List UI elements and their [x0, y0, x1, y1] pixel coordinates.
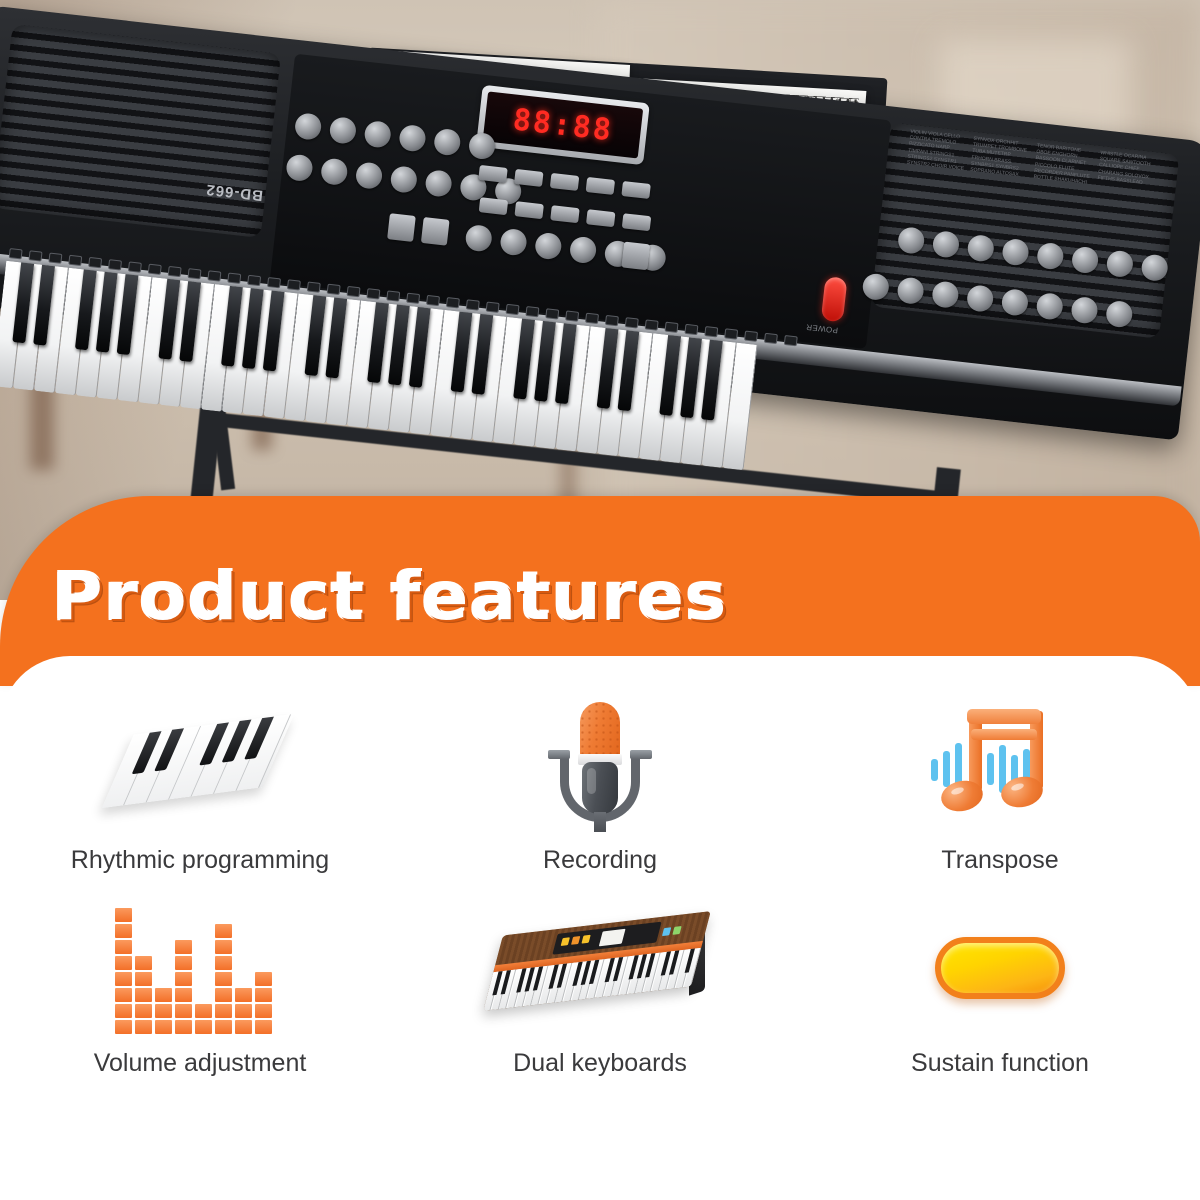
page-title: Product features [52, 558, 727, 635]
feature-recording: Recording [400, 690, 800, 875]
led-digits: 88:88 [511, 102, 615, 148]
note-beam-lower [971, 729, 1037, 740]
microphone-icon [485, 690, 715, 840]
knob[interactable] [320, 157, 349, 186]
waveform-bar [987, 753, 994, 785]
knob[interactable] [424, 169, 453, 198]
function-chip [625, 317, 639, 328]
function-chip [128, 261, 142, 272]
panel-button[interactable] [478, 165, 507, 183]
equalizer-block [215, 988, 232, 1002]
function-chip [426, 295, 440, 306]
mic-head-grille [580, 702, 620, 758]
panel-button[interactable] [387, 213, 416, 242]
knob[interactable] [398, 124, 427, 153]
equalizer-block [175, 972, 192, 986]
equalizer-block [155, 1004, 172, 1018]
knob[interactable] [1035, 292, 1064, 321]
equalizer-block [255, 1004, 272, 1018]
panel-button[interactable] [421, 217, 450, 246]
function-chip [346, 286, 360, 297]
equalizer-block [135, 956, 152, 970]
panel-button[interactable] [621, 181, 650, 199]
knob[interactable] [966, 234, 995, 263]
knob[interactable] [861, 272, 890, 301]
features-grid: Rhythmic programming Recor [0, 690, 1200, 1078]
mic-highlight [587, 768, 596, 794]
function-chip [724, 328, 738, 339]
knob[interactable] [569, 236, 598, 265]
feature-dual-keyboards: Dual keyboards [400, 893, 800, 1078]
equalizer-block [135, 988, 152, 1002]
function-chip [486, 302, 500, 313]
function-chip [506, 304, 520, 315]
music-note-wave-icon [885, 690, 1115, 840]
knob[interactable] [931, 280, 960, 309]
equalizer-block [155, 1020, 172, 1034]
note-stem-left [969, 713, 982, 791]
knob[interactable] [468, 132, 497, 161]
equalizer-block [175, 1004, 192, 1018]
mic-arm-left [548, 750, 570, 759]
function-chip [665, 322, 679, 333]
feature-rhythmic-programming: Rhythmic programming [0, 690, 400, 875]
note-beam-upper [967, 709, 1041, 724]
panel-button[interactable] [586, 209, 615, 227]
waveform-bar [943, 751, 950, 787]
knob[interactable] [329, 116, 358, 145]
knob[interactable] [433, 128, 462, 157]
waveform-bar [931, 759, 938, 781]
panel-button[interactable] [550, 173, 579, 191]
equalizer-block [115, 940, 132, 954]
function-chip [684, 324, 698, 335]
function-chip [784, 335, 798, 346]
function-chip [446, 297, 460, 308]
equalizer-block [215, 1020, 232, 1034]
function-chip [645, 319, 659, 330]
equalizer-bars-icon [85, 893, 315, 1043]
function-chip [48, 252, 62, 263]
equalizer-block [175, 1020, 192, 1034]
function-chip [207, 270, 221, 281]
equalizer-block [135, 972, 152, 986]
mic-arm-right [630, 750, 652, 759]
equalizer-block [175, 956, 192, 970]
function-chip [366, 288, 380, 299]
knob[interactable] [534, 232, 563, 261]
equalizer-block [195, 1020, 212, 1034]
knob[interactable] [1071, 246, 1100, 275]
knob[interactable] [355, 161, 384, 190]
function-chip [525, 306, 539, 317]
equalizer-block [215, 956, 232, 970]
square-button-row-4[interactable] [621, 242, 650, 271]
feature-sustain-function: Sustain function [800, 893, 1200, 1078]
led-display: 88:88 [476, 85, 650, 165]
equalizer-block [115, 988, 132, 1002]
panel-button[interactable] [514, 169, 543, 187]
function-chip [247, 275, 261, 286]
function-chip [168, 266, 182, 277]
equalizer-block [115, 1020, 132, 1034]
function-chip [327, 284, 341, 295]
feature-label: Recording [543, 846, 657, 875]
equalizer-block [235, 988, 252, 1002]
panel-button[interactable] [622, 213, 651, 231]
function-chip [9, 248, 23, 259]
dual-keyboard-icon [485, 893, 715, 1043]
knob[interactable] [1036, 242, 1065, 271]
knob[interactable] [896, 276, 925, 305]
knob[interactable] [932, 230, 961, 259]
equalizer-block [235, 1020, 252, 1034]
equalizer-block [255, 972, 272, 986]
piano-keys-icon [85, 690, 315, 840]
feature-label: Sustain function [911, 1049, 1089, 1078]
equalizer-block [115, 956, 132, 970]
panel-button[interactable] [621, 242, 650, 271]
function-chip [704, 326, 718, 337]
equalizer-block [215, 940, 232, 954]
function-chip [406, 293, 420, 304]
panel-button[interactable] [479, 197, 508, 215]
function-chip [187, 268, 201, 279]
knob[interactable] [499, 228, 528, 257]
knob[interactable] [1105, 300, 1134, 329]
equalizer-block [195, 1004, 212, 1018]
left-speaker-grille [0, 24, 281, 238]
knob[interactable] [966, 284, 995, 313]
knob[interactable] [1001, 288, 1030, 317]
function-chip [466, 299, 480, 310]
sustain-pill-icon [885, 893, 1115, 1043]
function-chip [28, 250, 42, 261]
feature-label: Transpose [941, 846, 1058, 875]
features-card: Rhythmic programming Recor [0, 656, 1200, 1200]
keyboard-icon-body [483, 911, 711, 1011]
feature-label: Rhythmic programming [71, 846, 329, 875]
equalizer-block [235, 1004, 252, 1018]
equalizer-block [215, 924, 232, 938]
equalizer-block [115, 908, 132, 922]
function-chip [267, 277, 281, 288]
sustain-pedal-shape [935, 937, 1065, 999]
function-chip [287, 279, 301, 290]
product-feature-page: BD-662 PIANO BRIGHT HONKY ELEC1 ELEC2 HA… [0, 0, 1200, 1200]
equalizer-block [115, 1004, 132, 1018]
function-chip [545, 308, 559, 319]
equalizer-block [255, 1020, 272, 1034]
equalizer-block [175, 940, 192, 954]
knob[interactable] [389, 165, 418, 194]
equalizer-block [215, 1004, 232, 1018]
function-chip [68, 255, 82, 266]
feature-volume-adjustment: Volume adjustment [0, 893, 400, 1078]
function-chip [148, 264, 162, 275]
knob[interactable] [1070, 296, 1099, 325]
function-chip [585, 313, 599, 324]
knob[interactable] [464, 224, 493, 253]
knob[interactable] [285, 153, 314, 182]
equalizer-block [215, 972, 232, 986]
equalizer-block [255, 988, 272, 1002]
function-chip [88, 257, 102, 268]
function-chip [386, 290, 400, 301]
feature-label: Dual keyboards [513, 1049, 687, 1078]
equalizer-block [155, 988, 172, 1002]
function-chip [307, 281, 321, 292]
panel-button[interactable] [514, 201, 543, 219]
panel-button[interactable] [586, 177, 615, 195]
equalizer-block [135, 1020, 152, 1034]
knob[interactable] [1140, 253, 1169, 282]
knob[interactable] [1106, 250, 1135, 279]
function-chip [108, 259, 122, 270]
square-button-row-3[interactable] [387, 213, 450, 246]
function-chip [605, 315, 619, 326]
function-chip [565, 310, 579, 321]
equalizer-block [115, 972, 132, 986]
knob[interactable] [1001, 238, 1030, 267]
function-chip [764, 333, 778, 344]
square-button-row-2[interactable] [479, 197, 652, 231]
knob[interactable] [363, 120, 392, 149]
knob-row-1[interactable] [294, 112, 497, 160]
feature-label: Volume adjustment [94, 1049, 307, 1078]
mic-stem [594, 812, 606, 832]
equalizer-block [175, 988, 192, 1002]
panel-button[interactable] [550, 205, 579, 223]
knob[interactable] [897, 226, 926, 255]
tone-list-right: VIOLIN VIOLA CELLO CONTRA TREMOLO PIZZIC… [894, 129, 1159, 306]
feature-transpose: Transpose [800, 690, 1200, 875]
knob[interactable] [294, 112, 323, 141]
equalizer-block [115, 924, 132, 938]
equalizer-block [135, 1004, 152, 1018]
function-chip [744, 331, 758, 342]
function-chip [227, 273, 241, 284]
